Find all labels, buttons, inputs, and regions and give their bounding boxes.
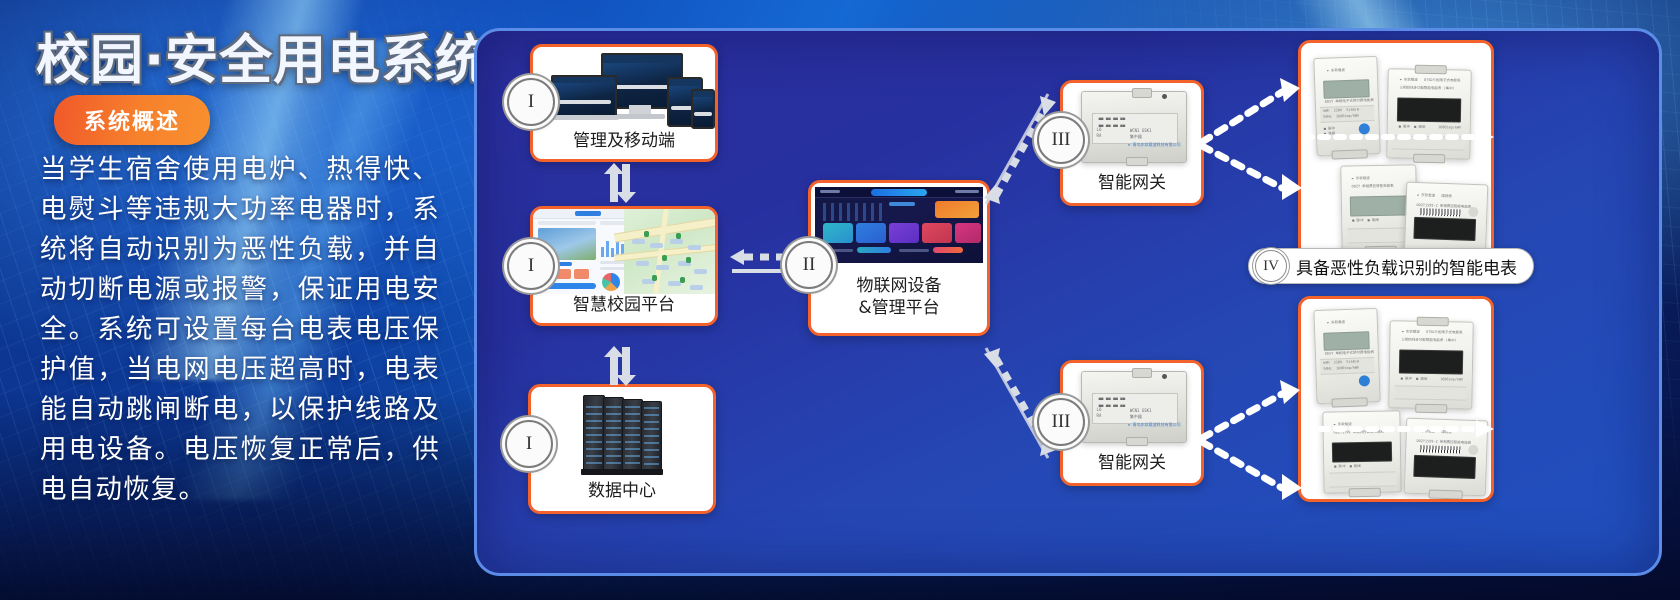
node-gateway-top-label: 智能网关	[1063, 172, 1201, 203]
connector-gateway-top-to-meters	[1196, 76, 1306, 204]
numeral-badge-smart-campus: I	[507, 242, 555, 290]
admin-mobile-illustration	[533, 47, 715, 130]
meter-group-label-text: 具备恶性负载识别的智能电表	[1296, 254, 1517, 279]
node-admin-mobile[interactable]: 管理及移动端	[530, 44, 718, 162]
connector-meter-bottom-internal	[1300, 418, 1500, 440]
node-data-center[interactable]: 数据中心	[528, 384, 716, 514]
numeral-badge-gateway-top: III	[1037, 116, 1085, 164]
connector-campus-to-datacenter	[604, 345, 636, 387]
node-smart-campus-label: 智慧校园平台	[533, 294, 715, 323]
laptop-base	[545, 115, 619, 120]
connector-gateway-bottom-to-meters	[1196, 378, 1306, 506]
smart-campus-illustration	[533, 209, 715, 294]
connector-meter-top-internal	[1300, 126, 1500, 148]
node-smart-meters-bottom[interactable]: ▰ 东软载波 DDSY 单相电子式预付费电能表 kWh 220V 5(60)A …	[1298, 296, 1494, 502]
campus-map-pane	[624, 209, 715, 294]
numeral-badge-data-center: I	[505, 420, 553, 468]
three-phase-meter-icon: ▰ 东软载波 DTSD三相电子式电能表 三相四线多功能智能电能表 (集中） ■ …	[1388, 320, 1474, 409]
laptop-screen-icon	[551, 75, 617, 119]
phone-screen-icon	[691, 89, 715, 129]
gateway-bottom-illustration: ■■ ■■ ■■ ■■ ■■ ■■ ■■ ■■ WCN1 GSK1 集中器 LO…	[1063, 363, 1201, 452]
numeral-badge-meter-group: IV	[1255, 250, 1287, 282]
smart-meter-bottom-illustration: ▰ 东软载波 DDSY 单相电子式预付费电能表 kWh 220V 5(60)A …	[1301, 299, 1491, 499]
meter-group-label[interactable]: IV 具备恶性负载识别的智能电表	[1248, 248, 1534, 284]
overview-column: 校园·安全用电系统 系统概述 当学生宿舍使用电炉、热得快、电熨斗等违规大功率电器…	[0, 0, 470, 600]
connector-admin-to-campus	[604, 162, 636, 204]
screenshot-canvas: 校园·安全用电系统 系统概述 当学生宿舍使用电炉、热得快、电熨斗等违规大功率电器…	[0, 0, 1680, 600]
overview-paragraph: 当学生宿舍使用电炉、热得快、电熨斗等违规大功率电器时，系统将自动识别为恶性负载，…	[40, 150, 440, 510]
node-data-center-label: 数据中心	[531, 480, 713, 511]
server-rack-icon	[583, 395, 605, 471]
smart-gateway-device-icon: ■■ ■■ ■■ ■■ ■■ ■■ ■■ ■■ WCN1 GSK1 集中器 LO…	[1081, 371, 1187, 443]
single-phase-meter-icon: ▰ 东软载波 DDSY 单相电子式预付费电能表 kWh 220V 5(60)A …	[1313, 308, 1380, 404]
numeral-badge-admin-mobile: I	[507, 78, 555, 126]
data-center-illustration	[531, 387, 713, 480]
page-title: 校园·安全用电系统	[36, 18, 466, 94]
node-smart-meters-top[interactable]: ▰ 东软载波 DDSY 单相电子式预付费电能表 kWh 220V 5(60)A …	[1298, 40, 1494, 266]
monitor-base	[615, 114, 665, 119]
node-smart-campus[interactable]: 智慧校园平台	[530, 206, 718, 326]
smart-meter-top-illustration: ▰ 东软载波 DDSY 单相电子式预付费电能表 kWh 220V 5(60)A …	[1301, 43, 1491, 263]
node-admin-mobile-label: 管理及移动端	[533, 130, 715, 159]
numeral-badge-gateway-bottom: III	[1037, 398, 1085, 446]
gateway-top-illustration: ■■ ■■ ■■ ■■ ■■ ■■ ■■ ■■ WCN1 GSK1 集中器 LO…	[1063, 83, 1201, 172]
node-iot-platform-label-line2: &管理平台	[811, 297, 987, 319]
numeral-badge-iot-platform: II	[785, 241, 833, 289]
section-badge: 系统概述	[54, 95, 210, 145]
node-gateway-bottom-label: 智能网关	[1063, 452, 1201, 483]
smart-gateway-device-icon: ■■ ■■ ■■ ■■ ■■ ■■ ■■ ■■ WCN1 GSK1 集中器 LO…	[1081, 91, 1187, 163]
campus-dashboard-screenshot	[533, 209, 715, 294]
